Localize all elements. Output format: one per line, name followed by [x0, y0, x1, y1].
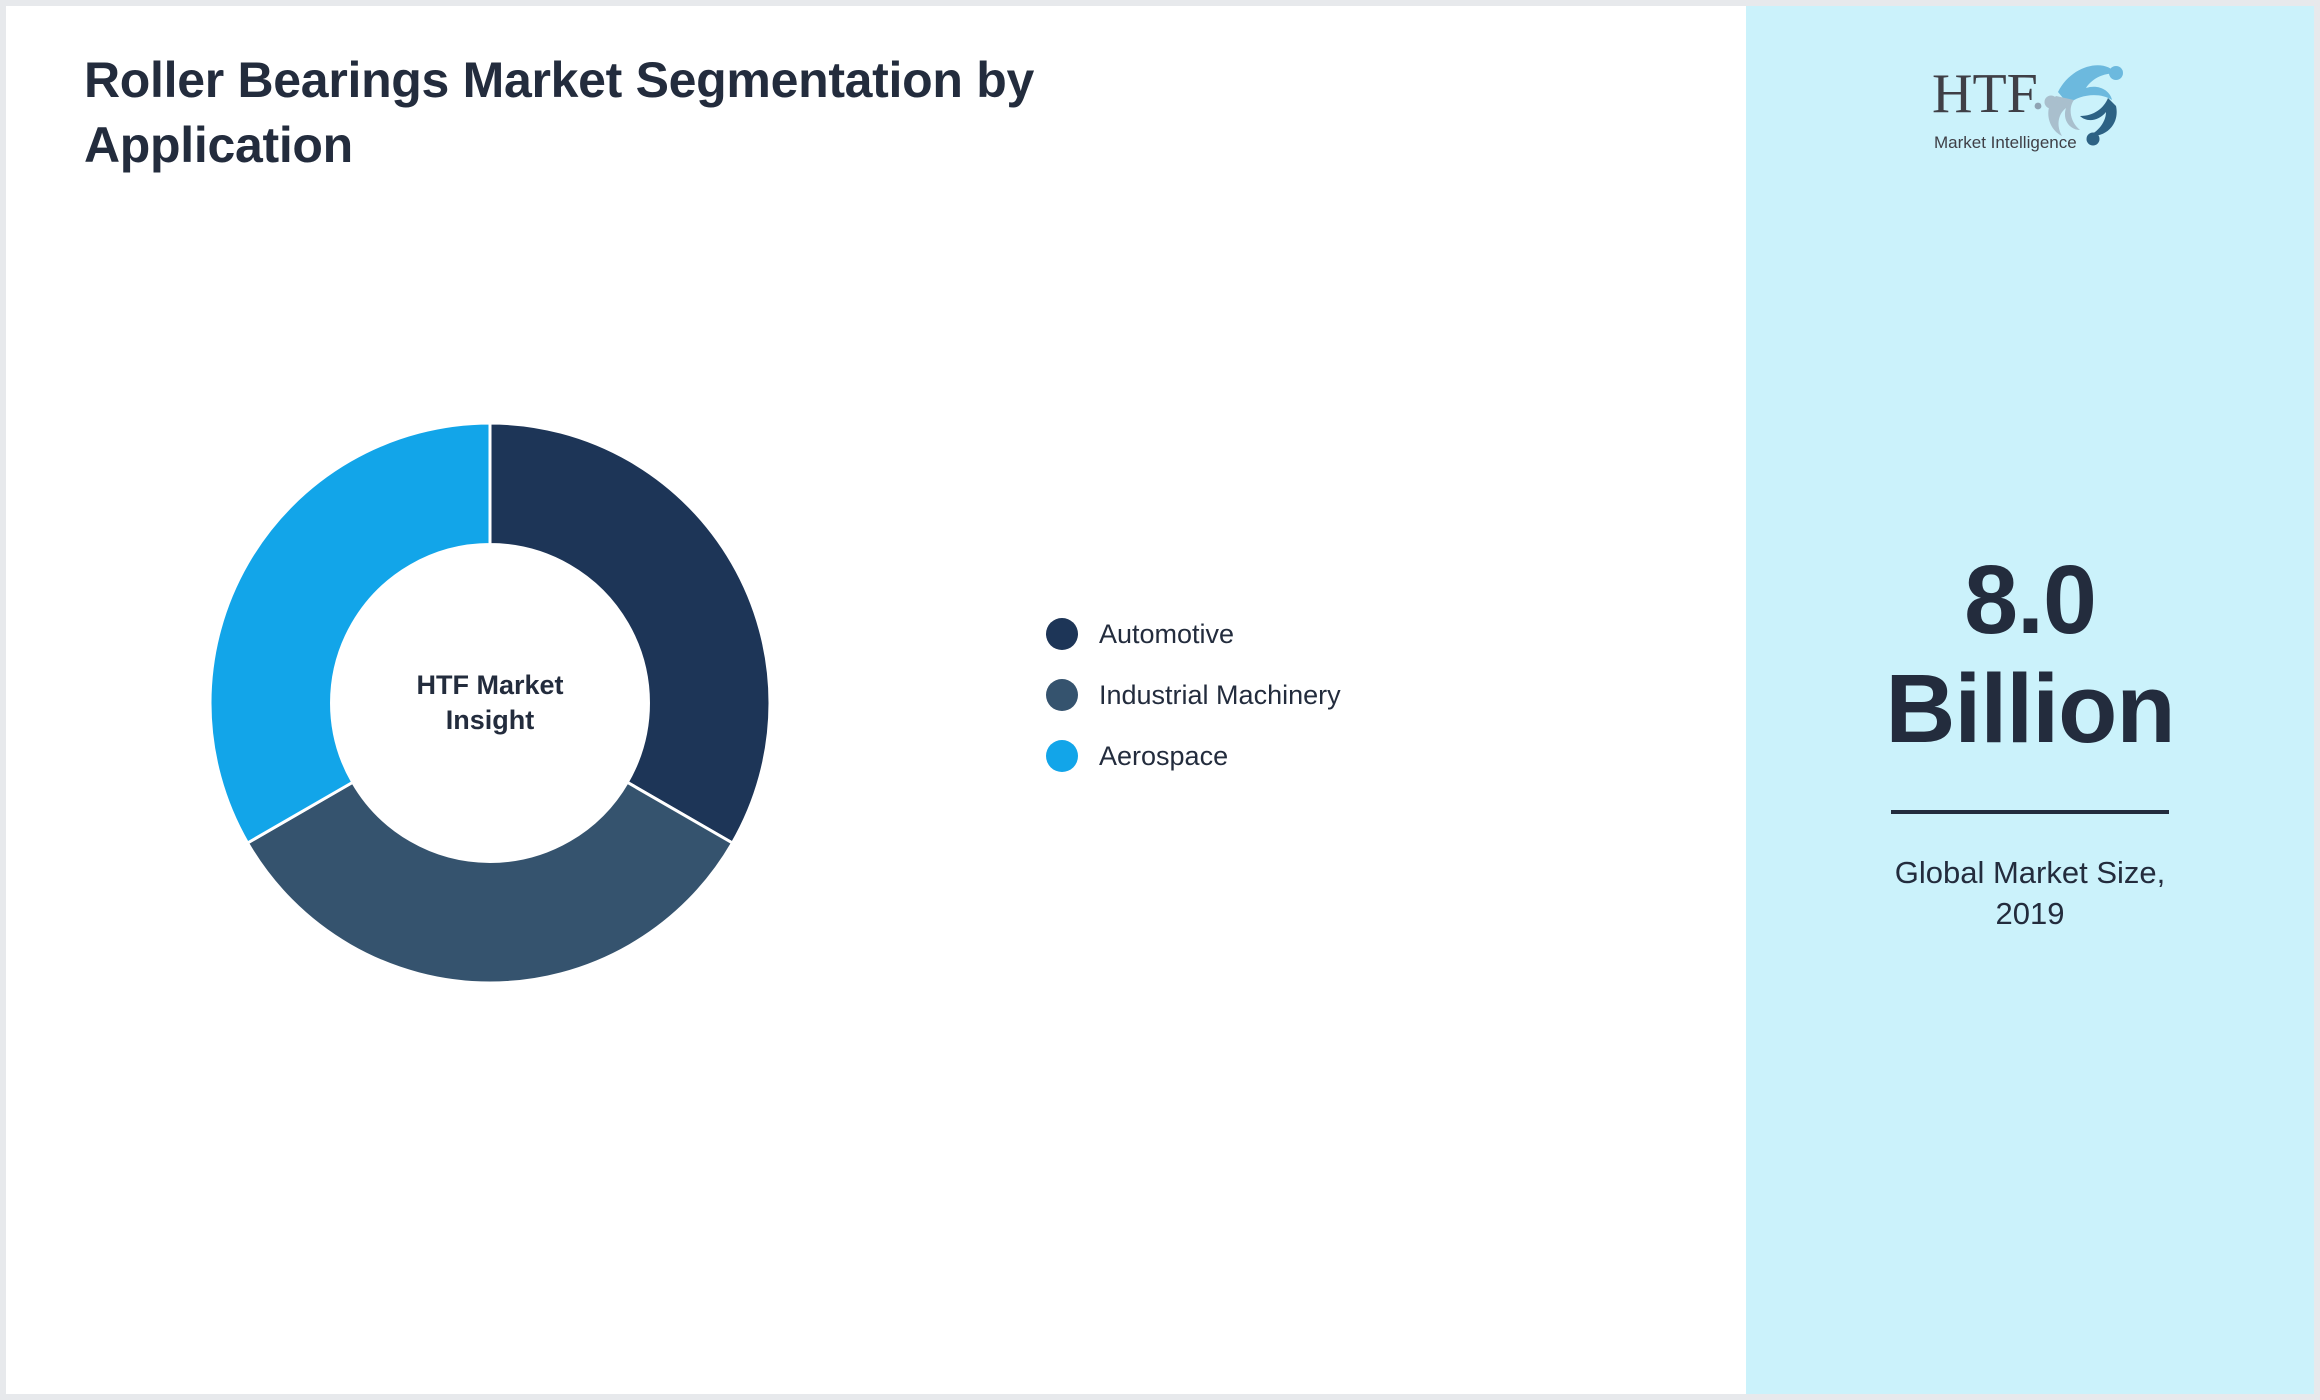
- donut-chart-svg: [205, 418, 775, 988]
- stat-block: 8.0 Billion Global Market Size, 2019: [1810, 546, 2250, 935]
- legend-item-aerospace[interactable]: Aerospace: [1046, 740, 1341, 772]
- donut-slice-industrial-machinery[interactable]: [248, 782, 733, 983]
- legend-item-automotive[interactable]: Automotive: [1046, 618, 1341, 650]
- chart-pane: Roller Bearings Market Segmentation by A…: [6, 6, 1746, 1394]
- stat-pane: HTF M: [1746, 6, 2314, 1394]
- legend-item-industrial-machinery[interactable]: Industrial Machinery: [1046, 679, 1341, 711]
- legend-item-label: Industrial Machinery: [1099, 682, 1341, 709]
- legend-item-label: Aerospace: [1099, 743, 1228, 770]
- stat-value-line2: Billion: [1810, 655, 2250, 764]
- donut-slice-aerospace[interactable]: [210, 423, 490, 843]
- stat-value-line1: 8.0: [1810, 546, 2250, 655]
- htf-logo-dot-icon: [2035, 103, 2042, 110]
- legend-swatch-icon: [1046, 740, 1078, 772]
- legend-swatch-icon: [1046, 618, 1078, 650]
- htf-logo-svg: HTF M: [1920, 50, 2140, 154]
- stat-divider: [1891, 810, 2169, 814]
- infographic-card: Roller Bearings Market Segmentation by A…: [6, 6, 2314, 1394]
- donut-slice-automotive[interactable]: [490, 423, 770, 843]
- page-title: Roller Bearings Market Segmentation by A…: [84, 48, 1184, 178]
- chart-legend: Automotive Industrial Machinery Aerospac…: [1046, 618, 1341, 772]
- legend-swatch-icon: [1046, 679, 1078, 711]
- legend-item-label: Automotive: [1099, 621, 1234, 648]
- htf-logo: HTF M: [1920, 50, 2140, 154]
- donut-chart: HTF Market Insight: [205, 418, 775, 988]
- htf-wordmark-text: HTF: [1932, 63, 2038, 125]
- stat-caption-line2: 2019: [1810, 893, 2250, 934]
- htf-tagline-text: Market Intelligence: [1934, 133, 2077, 152]
- stat-caption-line1: Global Market Size,: [1810, 852, 2250, 893]
- infographic-canvas: Roller Bearings Market Segmentation by A…: [0, 0, 2320, 1400]
- stat-caption: Global Market Size, 2019: [1810, 852, 2250, 934]
